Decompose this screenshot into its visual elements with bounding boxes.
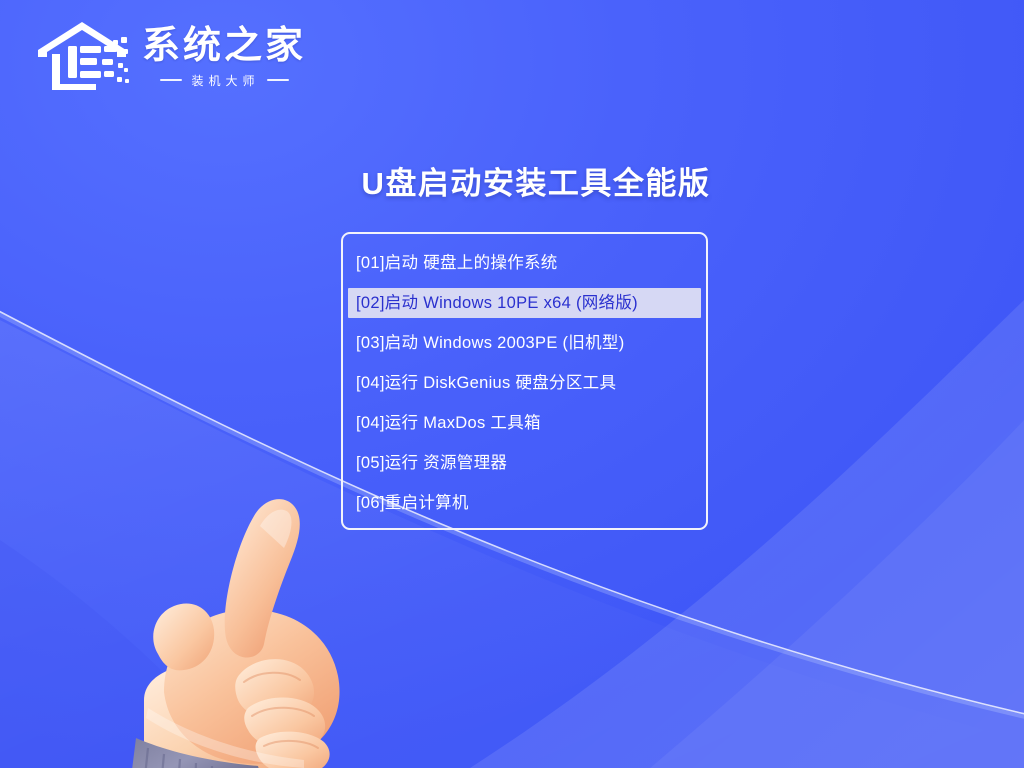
brand-text-group: 系统之家 装机大师	[142, 23, 306, 89]
boot-menu-item-06[interactable]: [06]重启计算机	[348, 488, 701, 518]
boot-menu-item-01[interactable]: [01]启动 硬盘上的操作系统	[348, 248, 701, 278]
tagline-rule-left	[160, 79, 182, 81]
brand-tagline: 装机大师	[160, 72, 289, 89]
boot-menu-item-05[interactable]: [05]运行 资源管理器	[348, 448, 701, 478]
boot-menu-item-04-diskgenius[interactable]: [04]运行 DiskGenius 硬盘分区工具	[348, 368, 701, 398]
boot-menu-item-04-maxdos[interactable]: [04]运行 MaxDos 工具箱	[348, 408, 701, 438]
brand-logo: 系统之家 装机大师	[38, 16, 306, 96]
boot-menu-panel: [01]启动 硬盘上的操作系统 [02]启动 Windows 10PE x64 …	[341, 232, 708, 530]
house-pixel-logo-icon	[38, 16, 130, 96]
boot-menu-list: [01]启动 硬盘上的操作系统 [02]启动 Windows 10PE x64 …	[343, 248, 706, 518]
boot-menu-item-02[interactable]: [02]启动 Windows 10PE x64 (网络版)	[348, 288, 701, 318]
tagline-rule-right	[267, 79, 289, 81]
brand-tagline-text: 装机大师	[189, 72, 260, 89]
brand-name: 系统之家	[142, 27, 306, 67]
boot-menu-item-03[interactable]: [03]启动 Windows 2003PE (旧机型)	[348, 328, 701, 358]
page-title: U盘启动安装工具全能版	[0, 158, 1024, 203]
